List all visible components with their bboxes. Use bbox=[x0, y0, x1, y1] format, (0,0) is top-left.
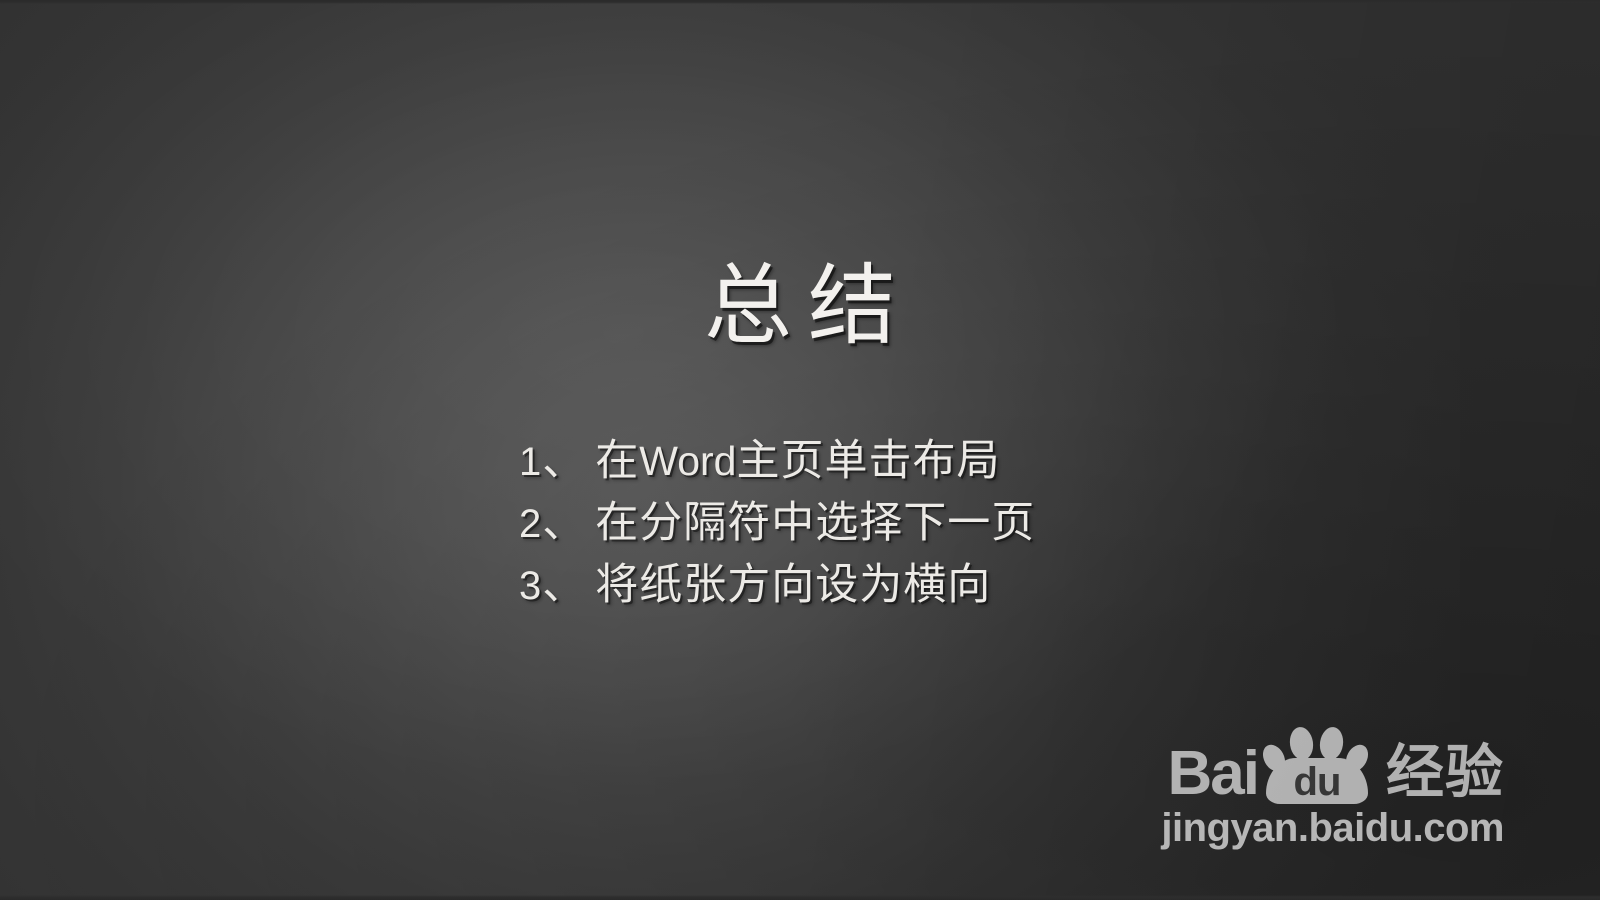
list-item: 3、将纸张方向设为横向 bbox=[519, 555, 1419, 617]
list-item-marker: 3 bbox=[519, 564, 542, 608]
paw-print-icon: du bbox=[1254, 718, 1380, 804]
watermark-brand-paw-text: du bbox=[1254, 762, 1380, 802]
list-item-marker: 1 bbox=[519, 440, 542, 484]
slide-body-list: 1、在Word主页单击布局 2、在分隔符中选择下一页 3、将纸张方向设为横向 bbox=[519, 430, 1419, 617]
slide-title: 总结 bbox=[0, 262, 1600, 354]
presentation-slide: 总结 1、在Word主页单击布局 2、在分隔符中选择下一页 3、将纸张方向设为横… bbox=[0, 0, 1600, 900]
list-item-text-cjk-1: 在分隔符中选择下一页 bbox=[595, 500, 1035, 547]
baidu-jingyan-watermark: Bai du 经验 jingyan.baidu.com bbox=[1161, 718, 1504, 850]
list-item-separator: 、 bbox=[542, 438, 595, 485]
paw-toe-icon bbox=[1318, 726, 1345, 762]
list-item-text-cjk-2: 主页单击布局 bbox=[736, 438, 1000, 485]
list-item: 2、在分隔符中选择下一页 bbox=[519, 493, 1419, 555]
list-item-separator: 、 bbox=[542, 500, 595, 547]
paw-toe-icon bbox=[1259, 741, 1290, 775]
list-item-text-cjk-1: 在 bbox=[595, 438, 639, 485]
slide-bottom-edge-band bbox=[0, 895, 1600, 900]
watermark-url: jingyan.baidu.com bbox=[1161, 806, 1504, 850]
paw-toe-icon bbox=[1288, 726, 1315, 762]
list-item: 1、在Word主页单击布局 bbox=[519, 430, 1419, 493]
paw-toe-icon bbox=[1342, 741, 1373, 775]
slide-top-edge-band bbox=[0, 0, 1600, 4]
list-item-text-cjk-1: 将纸张方向设为横向 bbox=[595, 562, 991, 609]
watermark-brand-latin: Bai bbox=[1168, 743, 1258, 805]
list-item-marker: 2 bbox=[519, 502, 542, 546]
paw-pad-icon bbox=[1266, 758, 1368, 804]
watermark-brand-cn: 经验 bbox=[1386, 744, 1504, 802]
list-item-text-latin: Word bbox=[639, 438, 736, 484]
watermark-logo-row: Bai du 经验 bbox=[1161, 718, 1504, 804]
list-item-separator: 、 bbox=[542, 562, 595, 609]
